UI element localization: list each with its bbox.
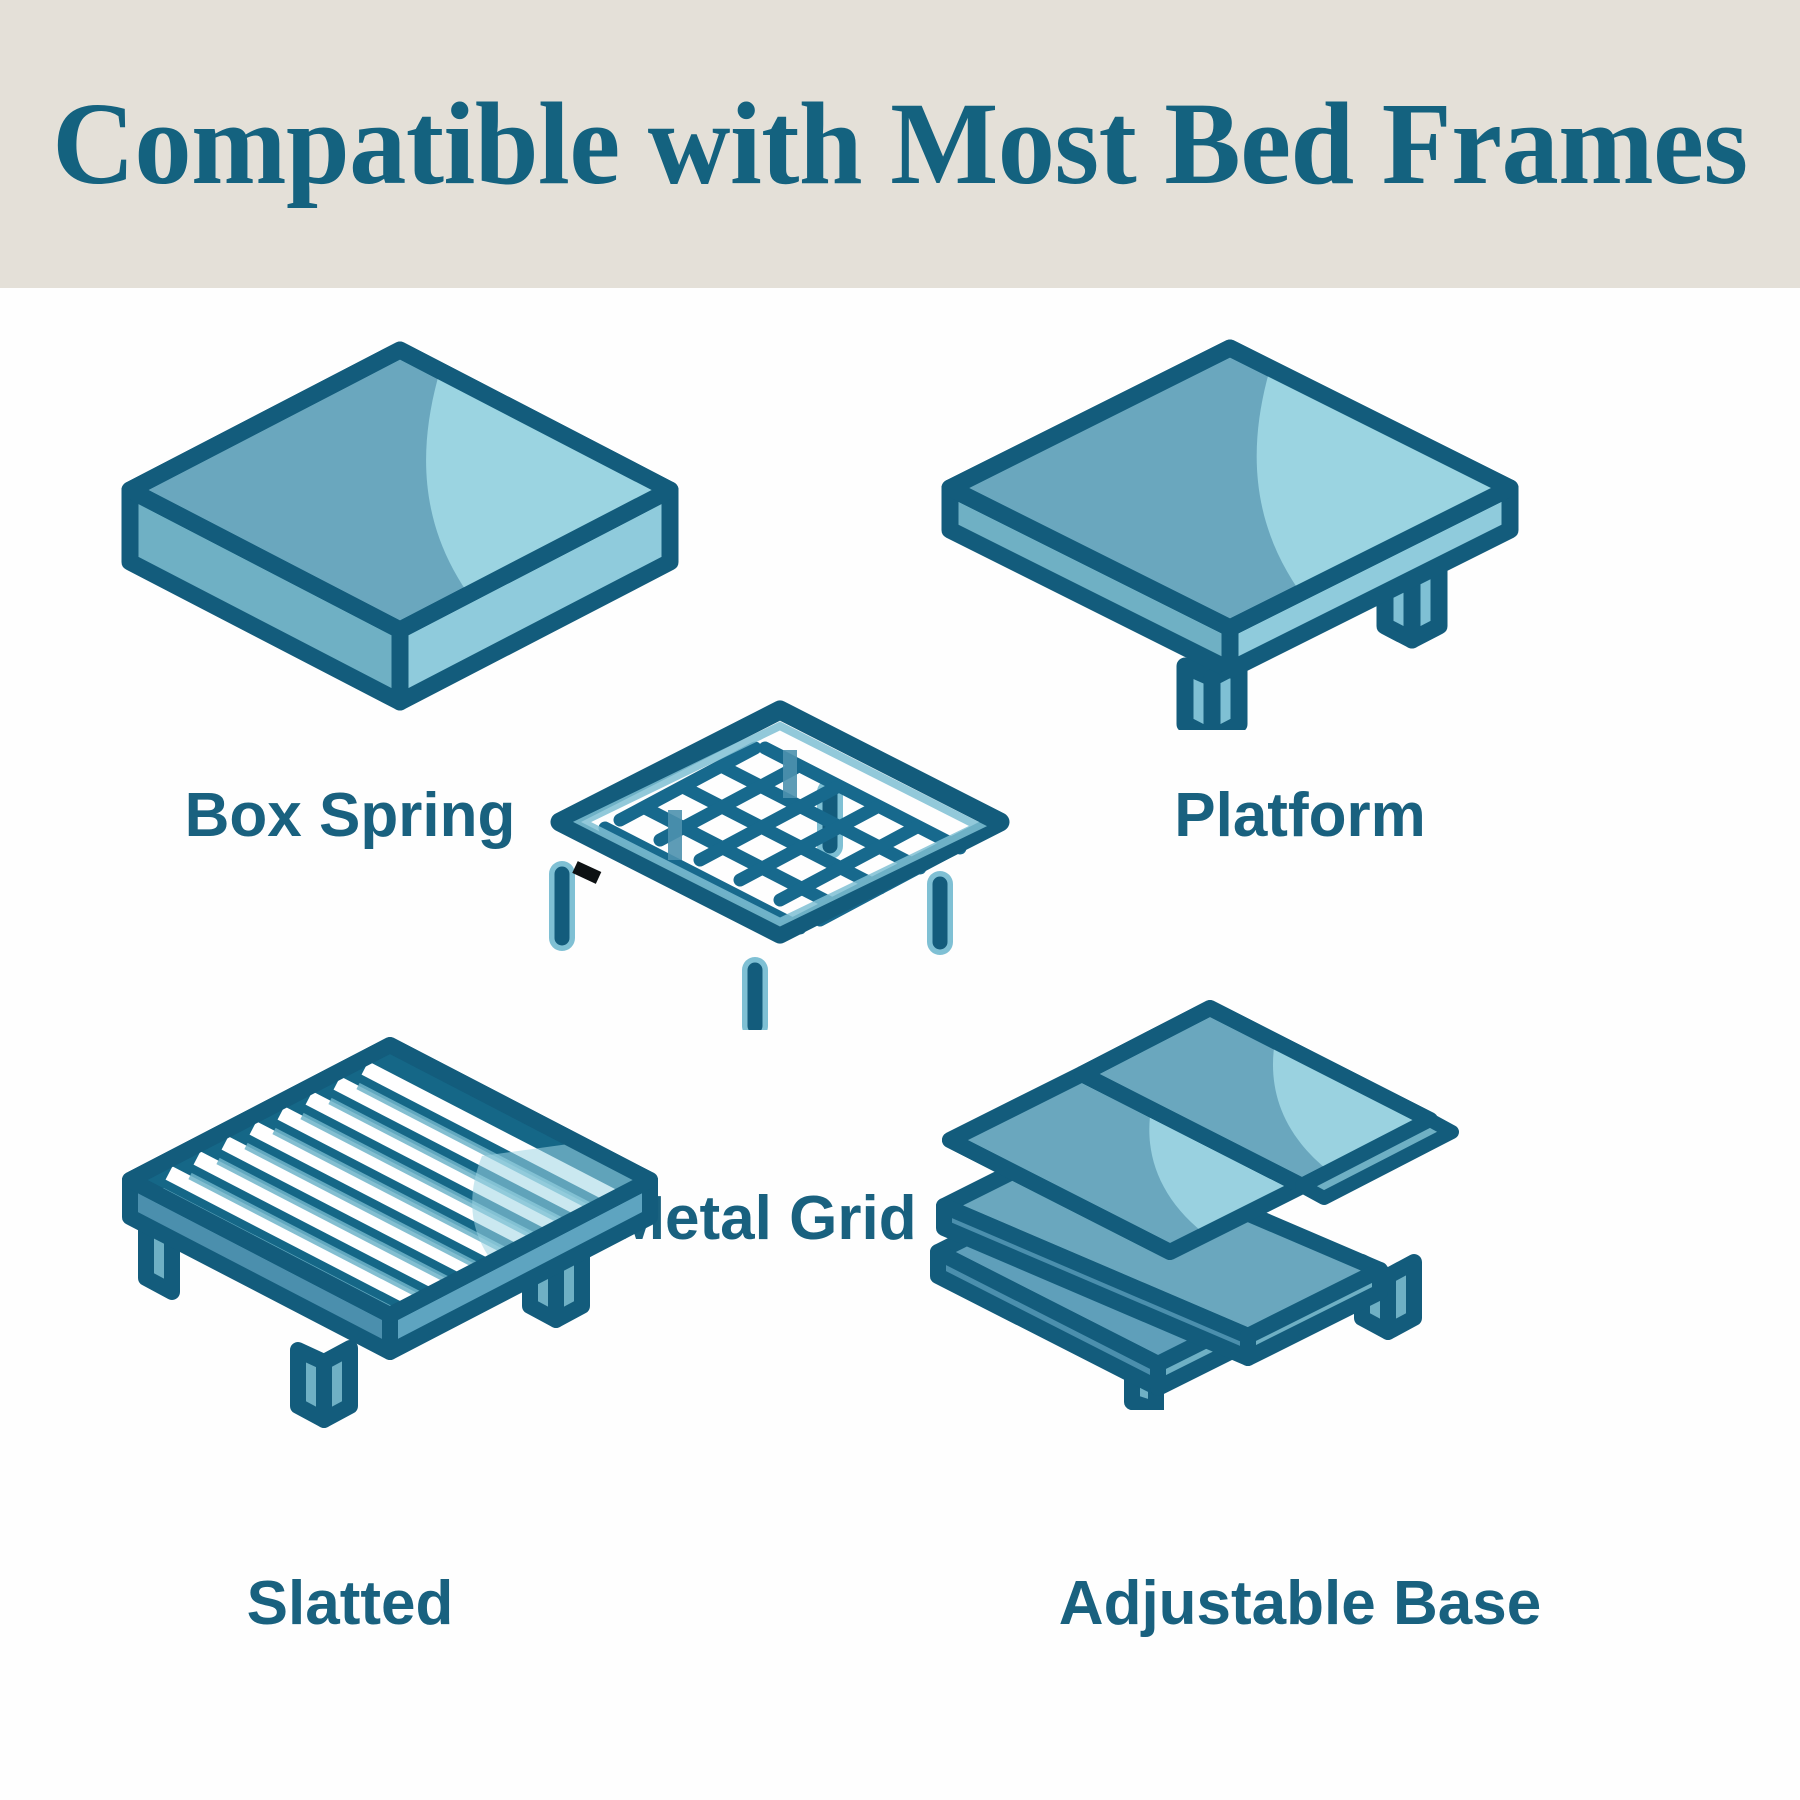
page-title: Compatible with Most Bed Frames: [52, 85, 1747, 203]
illustration-slatted: [110, 1030, 670, 1430]
label-platform: Platform: [1010, 785, 1590, 847]
illustration-adjustable-base: [910, 990, 1550, 1410]
grid-notch-detail: [572, 861, 601, 884]
header-banner: Compatible with Most Bed Frames: [0, 0, 1800, 288]
slatted-base-isometric-icon: [110, 1030, 670, 1430]
label-slatted: Slatted: [60, 1573, 640, 1635]
illustration-metal-grid: [500, 670, 1060, 1030]
infographic-page: Compatible with Most Bed Frames Box Spri…: [0, 0, 1800, 1800]
adjustable-base-isometric-icon: [910, 990, 1550, 1410]
metal-grid-isometric-icon: [500, 670, 1060, 1030]
label-adjustable-base: Adjustable Base: [1000, 1573, 1600, 1635]
